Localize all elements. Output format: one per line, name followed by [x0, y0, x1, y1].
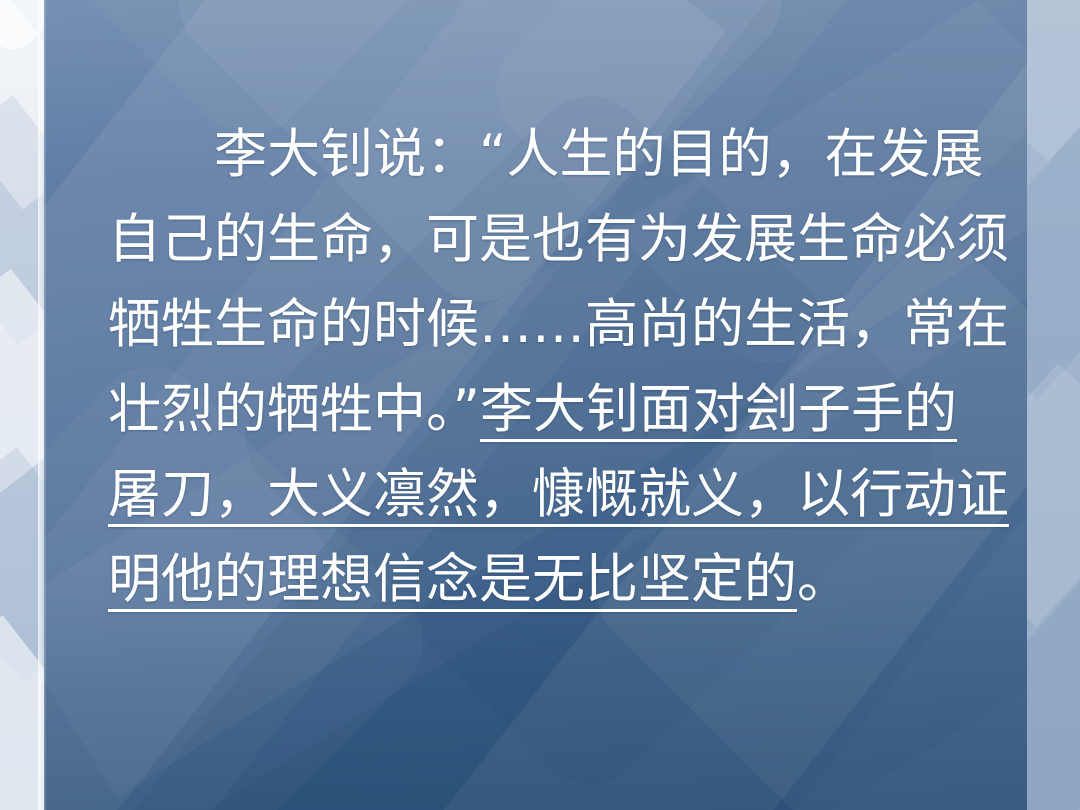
body-line-2-text: 自己的生命，可是也有为发展生命必须 [108, 209, 1009, 270]
right-band-stripe-2 [1027, 121, 1080, 400]
body-line-4-emphasis: 李大钊面对刽子手的 [480, 379, 957, 440]
body-line-4: 壮烈的牺牲中。”李大钊面对刽子手的 [108, 367, 976, 452]
body-line-3: 牺牲生命的时候……高尚的生活，常在 [108, 282, 976, 367]
right-decorative-band [1027, 0, 1080, 810]
body-line-6-emphasis: 明他的理想信念是无比坚定的 [108, 549, 797, 610]
body-line-5-emphasis: 屠刀，大义凛然，慷慨就义，以行动证 [108, 464, 1009, 525]
body-line-3-text: 牺牲生命的时候……高尚的生活，常在 [108, 294, 1009, 355]
body-line-1-text: 李大钊说：“人生的目的，在发展 [214, 124, 983, 185]
left-band-edge-highlight [38, 0, 46, 810]
body-line-5: 屠刀，大义凛然，慷慨就义，以行动证 [108, 452, 976, 537]
body-line-4-lead: 壮烈的牺牲中。” [108, 379, 480, 440]
right-band-stripe-3 [1027, 363, 1080, 626]
slide-body-text: 李大钊说：“人生的目的，在发展 自己的生命，可是也有为发展生命必须 牺牲生命的时… [108, 112, 976, 622]
body-line-2: 自己的生命，可是也有为发展生命必须 [108, 197, 976, 282]
body-line-6: 明他的理想信念是无比坚定的。 [108, 537, 976, 622]
body-line-1: 李大钊说：“人生的目的，在发展 [108, 112, 976, 197]
body-line-6-tail: 。 [797, 549, 850, 610]
slide-canvas: 李大钊说：“人生的目的，在发展 自己的生命，可是也有为发展生命必须 牺牲生命的时… [0, 0, 1080, 810]
